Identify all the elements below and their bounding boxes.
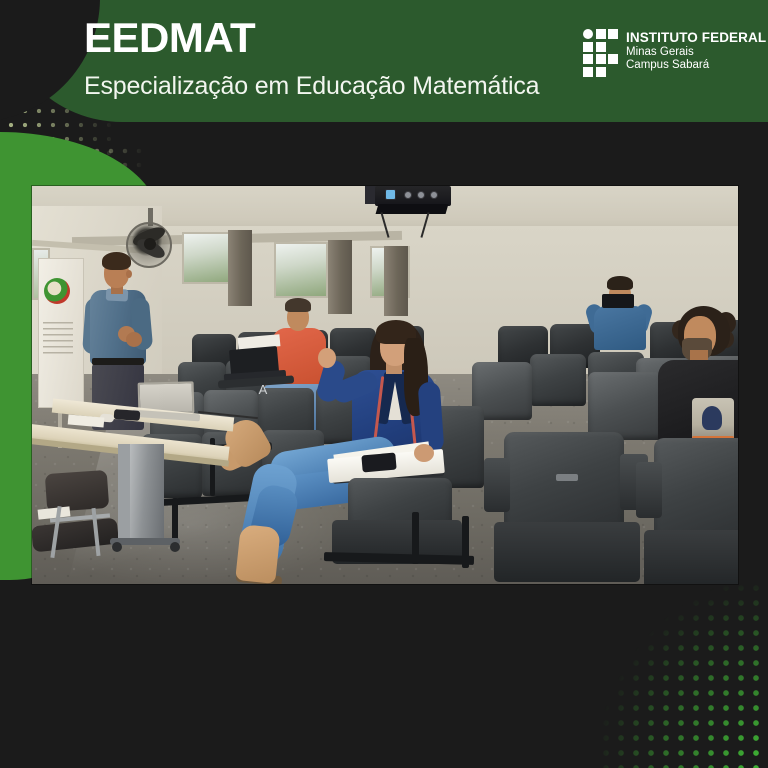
attendee-blue-hand bbox=[318, 348, 336, 368]
table-dark-object bbox=[114, 409, 141, 421]
presenter-hair bbox=[102, 252, 131, 270]
projector-knob-2 bbox=[417, 191, 425, 199]
front-chair-backrest bbox=[45, 470, 109, 512]
seat-front-center bbox=[504, 432, 624, 536]
page-subtitle: Especialização em Educação Matemática bbox=[84, 74, 539, 99]
armrest-front-center-left bbox=[484, 458, 510, 512]
table-caster-left bbox=[112, 542, 122, 552]
projector-knob-1 bbox=[404, 191, 412, 199]
if-logo-line-1: INSTITUTO FEDERAL bbox=[626, 30, 766, 46]
header-content: EEDMAT Especialização em Educação Matemá… bbox=[0, 0, 768, 122]
photographer-phone-icon bbox=[602, 294, 634, 308]
instituto-federal-logo: INSTITUTO FEDERAL Minas Gerais Campus Sa… bbox=[583, 29, 766, 77]
photographer-torso bbox=[594, 306, 646, 350]
table-caster-right bbox=[170, 542, 180, 552]
presenter-hand-right bbox=[126, 332, 142, 347]
seat-leg-front-2 bbox=[462, 516, 469, 568]
presenter-belt bbox=[92, 358, 144, 365]
projector-lens bbox=[385, 189, 396, 200]
attendee-black-shirt-graphic-figure bbox=[702, 406, 722, 430]
attendee-blue-hand-right bbox=[414, 444, 434, 462]
poster-board-text-lines bbox=[43, 322, 73, 356]
attendee-blue-boot-right bbox=[235, 524, 281, 584]
photographer-hair bbox=[607, 276, 633, 290]
table-leg-secondary bbox=[118, 444, 130, 540]
window-1 bbox=[182, 232, 234, 284]
attendee-blue-phone-icon bbox=[361, 453, 396, 473]
seat-front-right bbox=[654, 438, 738, 544]
projector-knob-3 bbox=[430, 191, 438, 199]
poster-board-graphic bbox=[44, 278, 70, 304]
if-logo-line-2: Minas Gerais bbox=[626, 46, 766, 59]
seat-row-letter: A bbox=[254, 382, 272, 400]
event-photo: A bbox=[32, 186, 738, 584]
curtain-3 bbox=[384, 246, 408, 316]
dot-pattern-bottom-right-icon bbox=[588, 570, 768, 768]
curtain-2 bbox=[328, 240, 352, 314]
fan-hub bbox=[144, 238, 156, 250]
projector-underside bbox=[376, 204, 449, 214]
curtain-1 bbox=[228, 230, 252, 306]
armrest-front-right-left bbox=[636, 462, 662, 518]
table-leg bbox=[130, 444, 164, 540]
event-photo-scene: A bbox=[32, 186, 738, 584]
seat-mid-2 bbox=[588, 372, 662, 440]
poster-canvas: EEDMAT Especialização em Educação Matemá… bbox=[0, 0, 768, 768]
seat-badge-front-center bbox=[556, 474, 578, 481]
if-logo-text: INSTITUTO FEDERAL Minas Gerais Campus Sa… bbox=[626, 29, 766, 72]
seat-row4-5 bbox=[530, 354, 586, 406]
seatbase-front-right bbox=[644, 530, 738, 584]
presenter-ear bbox=[126, 270, 132, 278]
page-title: EEDMAT bbox=[84, 17, 255, 59]
seatbase-front-center bbox=[494, 522, 640, 582]
if-grid-mark-icon bbox=[583, 29, 618, 77]
attendee-orange-hair bbox=[285, 298, 311, 312]
seat-leg-front-1 bbox=[412, 512, 419, 564]
if-logo-line-3: Campus Sabará bbox=[626, 59, 766, 72]
window-2 bbox=[274, 242, 328, 298]
